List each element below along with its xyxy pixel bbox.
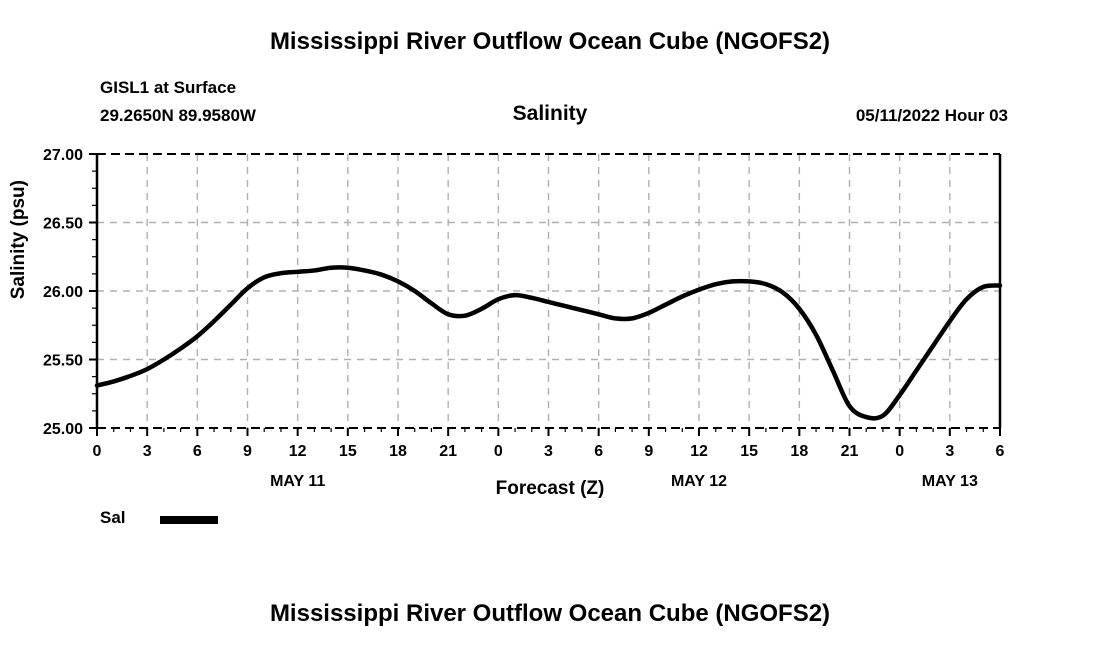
x-tick-label: 12 (690, 443, 708, 460)
page-title-bottom: Mississippi River Outflow Ocean Cube (NG… (0, 600, 1100, 628)
x-tick-label: 3 (945, 443, 954, 460)
y-tick-label: 26.00 (43, 284, 83, 301)
x-tick-label: 3 (143, 443, 152, 460)
salinity-line-chart: 03691215182103691215182103625.0025.5026.… (0, 0, 1100, 650)
x-tick-label: 21 (841, 443, 859, 460)
x-tick-label: 18 (790, 443, 808, 460)
x-tick-label: 9 (644, 443, 653, 460)
x-tick-label: 18 (389, 443, 407, 460)
y-tick-label: 27.00 (43, 147, 83, 164)
x-tick-label: 3 (544, 443, 553, 460)
x-tick-label: 15 (740, 443, 758, 460)
x-tick-label: 0 (494, 443, 503, 460)
x-tick-label: 6 (594, 443, 603, 460)
x-axis-title: Forecast (Z) (0, 478, 1100, 500)
x-tick-label: 15 (339, 443, 357, 460)
legend-swatch-sal (160, 516, 218, 524)
legend-label: Sal (100, 508, 126, 528)
x-tick-label: 0 (895, 443, 904, 460)
x-tick-label: 21 (439, 443, 457, 460)
y-tick-label: 25.50 (43, 353, 83, 370)
x-tick-label: 6 (193, 443, 202, 460)
chart-plot-area: 03691215182103691215182103625.0025.5026.… (0, 0, 1100, 650)
y-tick-label: 26.50 (43, 216, 83, 233)
x-tick-label: 12 (289, 443, 307, 460)
y-tick-label: 25.00 (43, 421, 83, 438)
x-tick-label: 6 (996, 443, 1005, 460)
x-tick-label: 9 (243, 443, 252, 460)
x-tick-label: 0 (93, 443, 102, 460)
